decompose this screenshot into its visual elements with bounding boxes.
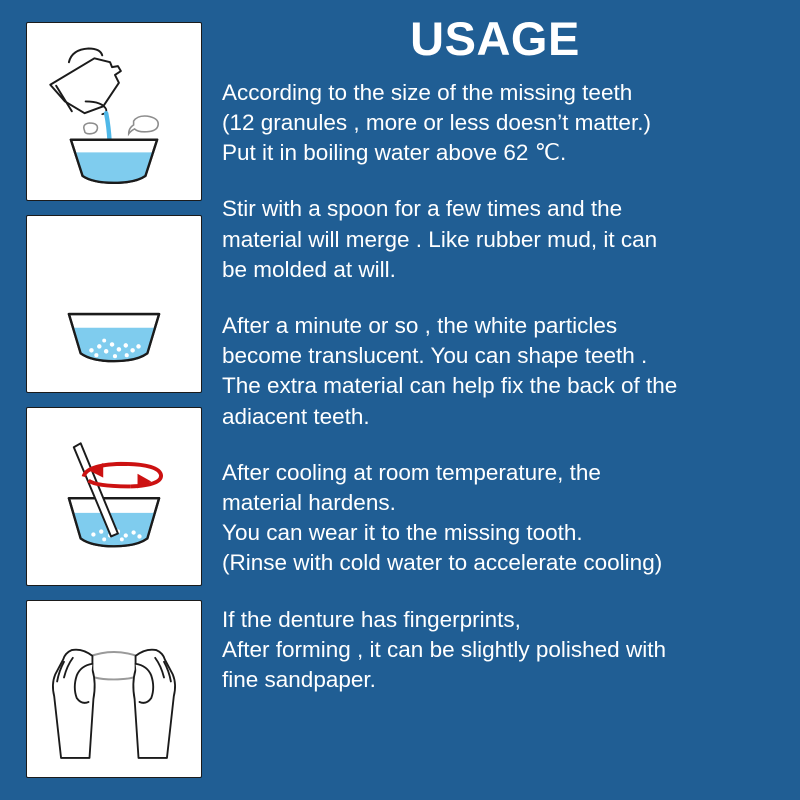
text-line: material will merge . Like rubber mud, i… [222,225,788,255]
text-line: material hardens. [222,488,788,518]
text-line: You can wear it to the missing tooth. [222,518,788,548]
kettle-icon [50,48,121,114]
paragraph-step-3: After a minute or so , the white particl… [222,311,788,432]
text-line: After a minute or so , the white particl… [222,311,788,341]
usage-text-column: USAGE According to the size of the missi… [222,14,788,695]
paragraph-step-1: According to the size of the missing tee… [222,78,788,169]
text-line: Put it in boiling water above 62 ℃. [222,138,788,168]
text-line: After cooling at room temperature, the [222,458,788,488]
panel-pour-boiling-water [26,22,202,201]
text-line: According to the size of the missing tee… [222,78,788,108]
right-hand-icon [133,649,175,757]
paragraph-step-5: If the denture has fingerprints, After f… [222,605,788,696]
text-line: Stir with a spoon for a few times and th… [222,194,788,224]
paragraph-step-4: After cooling at room temperature, the m… [222,458,788,579]
text-line: (Rinse with cold water to accelerate coo… [222,548,788,578]
text-line: After forming , it can be slightly polis… [222,635,788,665]
text-line: (12 granules , more or less doesn’t matt… [222,108,788,138]
steam-wisp-right [129,116,158,134]
panel-shape-with-hands [26,600,202,779]
text-line: If the denture has fingerprints, [222,605,788,635]
left-hand-icon [53,649,95,757]
usage-infographic: USAGE According to the size of the missi… [0,0,800,800]
panel-stir-with-spoon [26,407,202,586]
bowl-icon [71,140,157,183]
illustration-panel-column [26,22,202,778]
page-title: USAGE [222,14,788,64]
text-line: become translucent. You can shape teeth … [222,341,788,371]
bowl-icon [69,314,159,361]
text-line: The extra material can help fix the back… [222,371,788,401]
steam-wisp-left [84,123,98,134]
panel-granules-in-water [26,215,202,394]
text-line: be molded at will. [222,255,788,285]
stir-arrow-icon [84,463,161,488]
text-line: fine sandpaper. [222,665,788,695]
text-line: adiacent teeth. [222,402,788,432]
paragraph-step-2: Stir with a spoon for a few times and th… [222,194,788,285]
